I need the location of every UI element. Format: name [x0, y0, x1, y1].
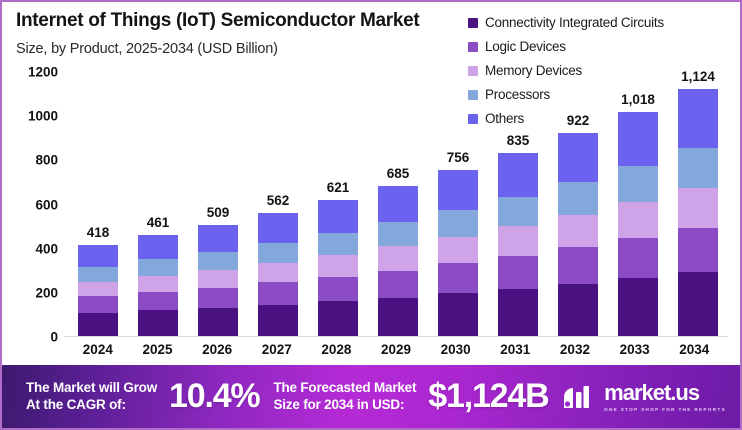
bar-segment[interactable]	[78, 267, 118, 282]
bar-segment[interactable]	[138, 259, 178, 275]
bar-segment[interactable]	[318, 301, 358, 337]
bar-segment[interactable]	[678, 89, 718, 149]
x-axis-tick-label: 2031	[485, 342, 545, 357]
bar-segment[interactable]	[198, 308, 238, 337]
bar-value-label: 835	[507, 133, 530, 148]
legend-item-label: Connectivity Integrated Circuits	[485, 15, 664, 30]
bar-segment[interactable]	[438, 210, 478, 237]
y-axis-tick-label: 400	[35, 241, 58, 256]
forecast-caption-line1: The Forecasted Market	[273, 380, 416, 395]
bar-segment[interactable]	[258, 243, 298, 263]
bar-stack[interactable]	[78, 245, 118, 337]
bar-column[interactable]: 461	[128, 72, 188, 337]
bar-segment[interactable]	[198, 288, 238, 308]
bar-column[interactable]: 756	[428, 72, 488, 337]
bar-segment[interactable]	[438, 237, 478, 264]
bar-segment[interactable]	[438, 293, 478, 337]
y-axis: 020040060080010001200	[16, 72, 64, 337]
market-us-logo-icon	[562, 384, 596, 410]
bar-segment[interactable]	[258, 282, 298, 304]
bar-value-label: 461	[147, 215, 170, 230]
bar-segment[interactable]	[618, 112, 658, 166]
x-axis-tick-label: 2027	[247, 342, 307, 357]
cagr-value: 10.4%	[169, 377, 259, 416]
bar-stack[interactable]	[318, 200, 358, 337]
bar-segment[interactable]	[558, 284, 598, 337]
bar-value-label: 621	[327, 180, 350, 195]
bar-stack[interactable]	[198, 225, 238, 337]
bar-value-label: 509	[207, 205, 230, 220]
x-axis-tick-label: 2029	[366, 342, 426, 357]
bar-value-label: 1,124	[681, 69, 715, 84]
legend-item-label: Logic Devices	[485, 39, 566, 54]
bar-segment[interactable]	[78, 245, 118, 267]
y-axis-tick-label: 600	[35, 197, 58, 212]
x-axis-tick-label: 2033	[605, 342, 665, 357]
bar-segment[interactable]	[678, 188, 718, 228]
page-title: Internet of Things (IoT) Semiconductor M…	[16, 10, 466, 32]
bar-column[interactable]: 835	[488, 72, 548, 337]
bar-segment[interactable]	[678, 148, 718, 188]
bar-segment[interactable]	[318, 277, 358, 302]
bar-column[interactable]: 922	[548, 72, 608, 337]
bar-segment[interactable]	[558, 215, 598, 248]
bar-segment[interactable]	[258, 263, 298, 283]
bar-segment[interactable]	[198, 225, 238, 252]
bar-column[interactable]: 509	[188, 72, 248, 337]
bar-segment[interactable]	[78, 296, 118, 313]
forecast-size-value: $1,124B	[428, 377, 548, 416]
bar-segment[interactable]	[318, 255, 358, 277]
bar-column[interactable]: 1,018	[608, 72, 668, 337]
bar-stack[interactable]	[438, 170, 478, 337]
bar-segment[interactable]	[498, 226, 538, 256]
brand-name: market.us	[604, 382, 726, 404]
x-axis-tick-label: 2025	[128, 342, 188, 357]
bar-segment[interactable]	[258, 213, 298, 243]
x-axis-tick-label: 2028	[307, 342, 367, 357]
bar-segment[interactable]	[558, 182, 598, 215]
bar-segment[interactable]	[558, 133, 598, 182]
bar-stack[interactable]	[558, 133, 598, 337]
y-axis-tick-label: 1200	[28, 65, 58, 80]
x-axis-tick-label: 2026	[187, 342, 247, 357]
brand-tagline: ONE STOP SHOP FOR THE REPORTS	[604, 407, 726, 412]
bar-segment[interactable]	[198, 252, 238, 270]
bar-segment[interactable]	[618, 278, 658, 337]
bar-segment[interactable]	[618, 202, 658, 238]
cagr-caption-line2: At the CAGR of:	[26, 397, 126, 412]
legend-swatch-icon	[468, 18, 478, 28]
bar-segment[interactable]	[78, 282, 118, 297]
bar-segment[interactable]	[198, 270, 238, 288]
bar-value-label: 418	[87, 225, 110, 240]
bar-value-label: 922	[567, 113, 590, 128]
bar-value-label: 685	[387, 166, 410, 181]
x-axis-tick-label: 2034	[664, 342, 724, 357]
bar-column[interactable]: 418	[68, 72, 128, 337]
x-axis-tick-label: 2032	[545, 342, 605, 357]
bar-column[interactable]: 621	[308, 72, 368, 337]
bar-segment[interactable]	[618, 166, 658, 202]
brand-text: market.us ONE STOP SHOP FOR THE REPORTS	[604, 382, 726, 412]
bar-segment[interactable]	[318, 233, 358, 255]
bar-stack[interactable]	[678, 89, 718, 337]
bar-stack[interactable]	[618, 112, 658, 337]
bar-segment[interactable]	[378, 186, 418, 222]
y-axis-tick-label: 800	[35, 153, 58, 168]
bar-segment[interactable]	[318, 200, 358, 233]
bar-value-label: 756	[447, 150, 470, 165]
bar-value-label: 562	[267, 193, 290, 208]
brand-logo[interactable]: market.us ONE STOP SHOP FOR THE REPORTS	[562, 382, 726, 412]
bar-segment[interactable]	[558, 247, 598, 284]
infographic-card: Internet of Things (IoT) Semiconductor M…	[0, 0, 742, 430]
legend-swatch-icon	[468, 42, 478, 52]
bars-container: 4184615095626216857568359221,0181,124	[68, 72, 728, 337]
bar-column[interactable]: 685	[368, 72, 428, 337]
y-axis-tick-label: 1000	[28, 109, 58, 124]
bar-column[interactable]: 1,124	[668, 72, 728, 337]
legend-item[interactable]: Connectivity Integrated Circuits	[468, 12, 664, 33]
bar-segment[interactable]	[138, 235, 178, 259]
bar-segment[interactable]	[258, 305, 298, 337]
bar-segment[interactable]	[78, 313, 118, 337]
bar-stack[interactable]	[138, 235, 178, 337]
cagr-caption-line1: The Market will Grow	[26, 380, 157, 395]
bar-segment[interactable]	[378, 222, 418, 246]
bar-segment[interactable]	[498, 289, 538, 337]
bar-segment[interactable]	[138, 276, 178, 292]
bar-value-label: 1,018	[621, 92, 655, 107]
bar-segment[interactable]	[678, 228, 718, 273]
bar-segment[interactable]	[378, 271, 418, 298]
bar-stack[interactable]	[378, 186, 418, 337]
x-axis-tick-label: 2024	[68, 342, 128, 357]
bar-segment[interactable]	[498, 153, 538, 197]
bar-segment[interactable]	[498, 197, 538, 227]
bar-segment[interactable]	[138, 292, 178, 310]
y-axis-tick-label: 0	[50, 330, 58, 345]
chart-plot-area: 020040060080010001200 418461509562621685…	[16, 72, 730, 337]
forecast-size-caption: The Forecasted Market Size for 2034 in U…	[273, 380, 416, 413]
bar-stack[interactable]	[498, 153, 538, 337]
bar-segment[interactable]	[438, 170, 478, 210]
axis-baseline	[64, 336, 728, 338]
footer-banner: The Market will Grow At the CAGR of: 10.…	[2, 365, 740, 428]
bar-segment[interactable]	[378, 246, 418, 270]
bar-segment[interactable]	[498, 256, 538, 289]
legend-item[interactable]: Logic Devices	[468, 36, 664, 57]
forecast-caption-line2: Size for 2034 in USD:	[273, 397, 404, 412]
cagr-caption: The Market will Grow At the CAGR of:	[26, 380, 157, 413]
x-axis-tick-label: 2030	[426, 342, 486, 357]
y-axis-tick-label: 200	[35, 285, 58, 300]
chart-subtitle: Size, by Product, 2025-2034 (USD Billion…	[16, 41, 466, 57]
x-axis: 2024202520262027202820292030203120322033…	[68, 342, 724, 357]
bar-segment[interactable]	[618, 238, 658, 278]
bar-stack[interactable]	[258, 213, 298, 337]
bar-segment[interactable]	[678, 272, 718, 336]
bar-segment[interactable]	[138, 310, 178, 336]
chart-header: Internet of Things (IoT) Semiconductor M…	[16, 10, 466, 57]
bar-segment[interactable]	[378, 298, 418, 337]
bar-segment[interactable]	[438, 263, 478, 293]
bar-column[interactable]: 562	[248, 72, 308, 337]
